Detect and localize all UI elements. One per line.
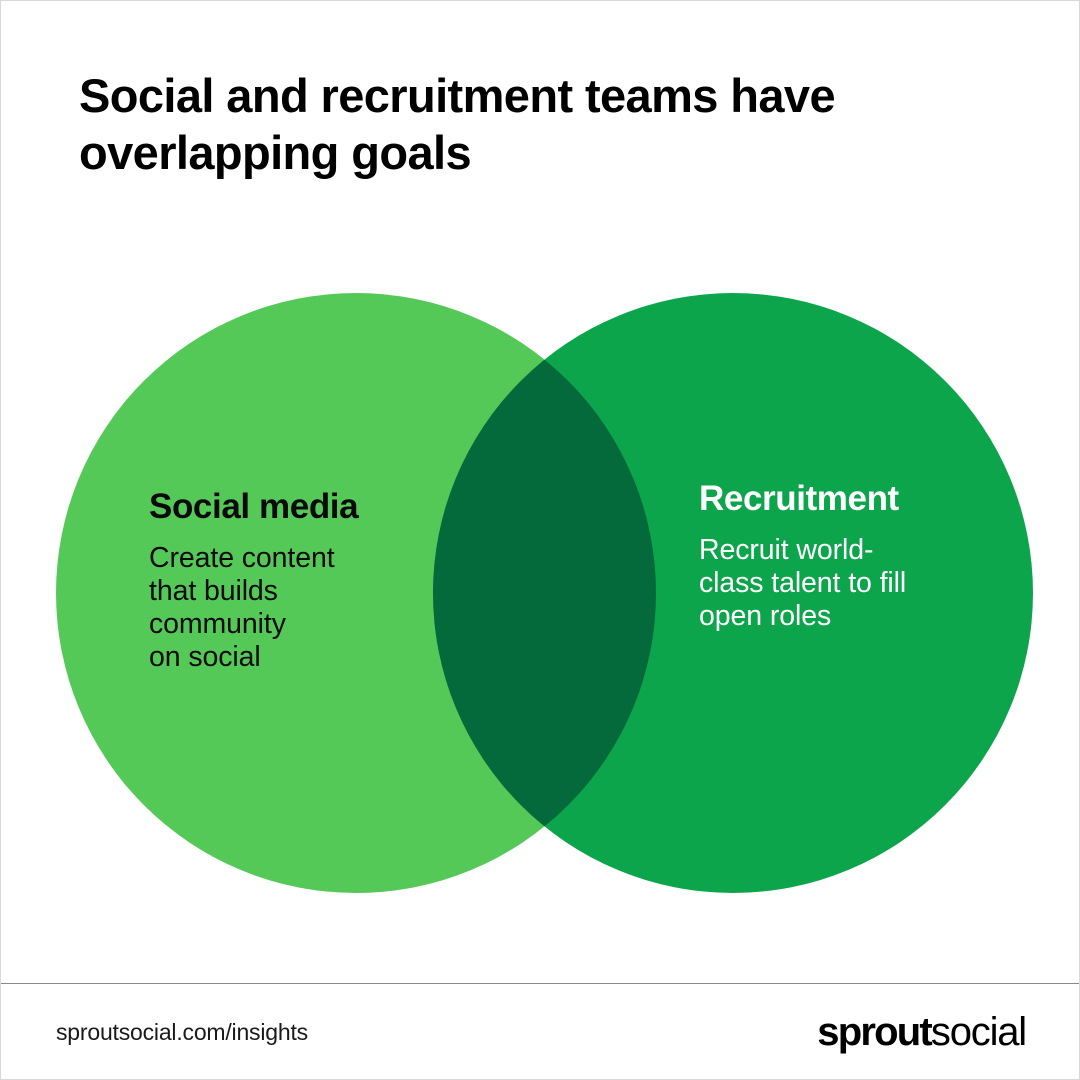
logo-wordmark-light: social (931, 1012, 1026, 1052)
venn-body-social-media: Create content that builds community on … (149, 542, 417, 674)
venn-diagram: Social media Create content that builds … (1, 1, 1080, 983)
venn-label-recruitment: Recruitment Recruit world- class talent … (699, 480, 957, 633)
venn-label-social-media: Social media Create content that builds … (149, 488, 417, 674)
venn-heading-recruitment: Recruitment (699, 480, 957, 517)
logo-wordmark-bold: sprout (817, 1012, 931, 1052)
footer: sproutsocial.com/insights sprout social (1, 984, 1080, 1080)
venn-heading-social-media: Social media (149, 488, 417, 525)
venn-body-recruitment: Recruit world- class talent to fill open… (699, 534, 957, 633)
infographic-card: Social and recruitment teams have overla… (0, 0, 1080, 1080)
sprout-social-logo: sprout social (817, 1012, 1026, 1052)
footer-url: sproutsocial.com/insights (56, 1021, 308, 1044)
